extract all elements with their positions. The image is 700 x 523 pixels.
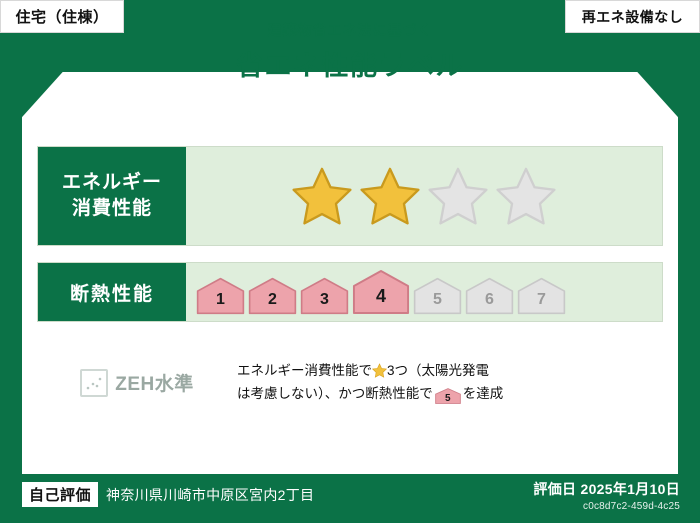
zeh-box-icon [80, 369, 108, 397]
star-rating [291, 165, 557, 227]
description-part1: エネルギー消費性能で [237, 363, 372, 378]
zeh-standard-label: ZEH水準 [115, 369, 194, 396]
zeh-standard-badge: ZEH水準 [37, 369, 237, 397]
star-empty-icon [495, 165, 557, 227]
inline-star-icon [372, 363, 387, 378]
description-part3: を達成 [463, 386, 504, 401]
evaluation-date: 評価日 2025年1月10日 [533, 479, 680, 499]
footer-left: 自己評価 神奈川県川崎市中原区宮内2丁目 [22, 482, 314, 507]
property-address: 神奈川県川崎市中原区宮内2丁目 [106, 485, 314, 505]
insulation-grade-4: 4 [352, 269, 410, 315]
energy-performance-row: エネルギー 消費性能 [37, 146, 663, 246]
insulation-grade-value: 5 [433, 291, 442, 315]
inline-grade-value: 5 [435, 388, 461, 409]
insulation-grade-2: 2 [248, 277, 297, 315]
inline-grade-badge: 5 [435, 388, 461, 404]
insulation-performance-label-text: 断熱性能 [70, 279, 154, 306]
evaluation-code: c0c8d7c2-459d-4c25 [533, 501, 680, 512]
title-main: 省エネ性能ラベル [0, 44, 700, 83]
star-filled-icon [359, 165, 421, 227]
insulation-performance-row: 断熱性能 1234567 [37, 262, 663, 322]
insulation-performance-body: 1234567 [186, 263, 662, 321]
achievement-description: エネルギー消費性能で3つ（太陽光発電 は考慮しない）、かつ断熱性能で5を達成 [237, 360, 663, 406]
energy-performance-label-line2: 消費性能 [72, 196, 152, 222]
star-empty-icon [427, 165, 489, 227]
insulation-grade-value: 4 [376, 286, 386, 315]
energy-performance-label: エネルギー 消費性能 [38, 147, 186, 245]
energy-performance-label-line1: エネルギー [62, 170, 162, 196]
insulation-performance-label: 断熱性能 [38, 263, 186, 321]
insulation-grade-value: 2 [268, 291, 277, 315]
footer-right: 評価日 2025年1月10日 c0c8d7c2-459d-4c25 [533, 479, 680, 512]
insulation-grade-1: 1 [196, 277, 245, 315]
description-star-count: 3つ（太陽光発電 [387, 363, 489, 378]
footer-bar: 自己評価 神奈川県川崎市中原区宮内2丁目 評価日 2025年1月10日 c0c8… [0, 474, 700, 523]
insulation-grade-value: 3 [320, 291, 329, 315]
insulation-grade-value: 6 [485, 291, 494, 315]
star-filled-icon [291, 165, 353, 227]
energy-performance-body [186, 147, 662, 245]
insulation-grade-7: 7 [517, 277, 566, 315]
zeh-description-section: ZEH水準 エネルギー消費性能で3つ（太陽光発電 は考慮しない）、かつ断熱性能で… [37, 360, 663, 406]
insulation-grade-5: 5 [413, 277, 462, 315]
insulation-grade-6: 6 [465, 277, 514, 315]
insulation-grade-scale: 1234567 [186, 269, 566, 315]
self-evaluation-badge: 自己評価 [22, 482, 98, 507]
description-part2: は考慮しない）、かつ断熱性能で [237, 386, 433, 401]
title-subtitle: 建築物省エネ法に基づく [0, 20, 700, 40]
insulation-grade-value: 7 [537, 291, 546, 315]
page-title: 建築物省エネ法に基づく 省エネ性能ラベル [0, 20, 700, 83]
insulation-grade-value: 1 [216, 291, 225, 315]
label-panel [22, 44, 678, 474]
insulation-grade-3: 3 [300, 277, 349, 315]
